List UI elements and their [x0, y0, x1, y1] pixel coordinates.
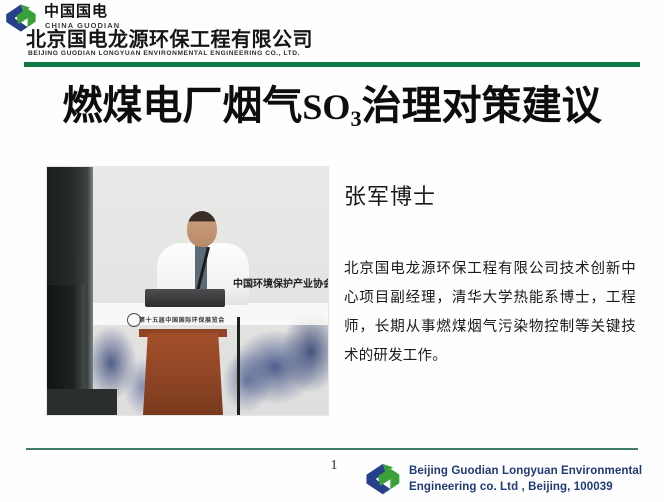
slide-title-part1: 燃煤电厂烟气: [62, 84, 302, 128]
slide-title-part2: 治理对策建议: [362, 84, 602, 128]
footer-guodian-logo-icon: [364, 462, 402, 496]
photo-floor-shadow: [47, 389, 117, 415]
slide-title: 燃煤电厂烟气SO3治理对策建议: [0, 82, 664, 136]
presentation-slide: 中国国电 CHINA GUODIAN 北京国电龙源环保工程有限公司 BEIJIN…: [0, 0, 664, 502]
slide-header: 中国国电 CHINA GUODIAN 北京国电龙源环保工程有限公司 BEIJIN…: [0, 0, 664, 68]
photo-backdrop-text: 中国环境保护产业协会: [233, 275, 329, 290]
page-number: 1: [325, 458, 343, 474]
company-name-cn: 北京国电龙源环保工程有限公司: [26, 29, 313, 51]
footer-line-1: Beijing Guodian Longyuan Environmental: [409, 464, 642, 480]
photo-microphone-stand: [237, 317, 240, 415]
footer-line-2: Engineering co. Ltd , Beijing, 100039: [409, 480, 642, 496]
footer-company-address: Beijing Guodian Longyuan Environmental E…: [409, 464, 642, 495]
company-name-en: BEIJING GUODIAN LONGYUAN ENVIRONMENTAL E…: [28, 50, 300, 58]
photo-expo-banner-text: 第十五届中国国际环保展览会: [139, 315, 225, 324]
photo-laptop: [145, 289, 225, 307]
chemical-formula-subscript: 3: [350, 106, 361, 131]
speaker-photo: 中国环境保护产业协会 第十五届中国国际环保展览会: [46, 166, 329, 416]
footer-divider: [26, 448, 638, 450]
photo-podium: [143, 333, 223, 415]
header-green-bar: [24, 62, 640, 67]
chemical-formula: SO3: [302, 87, 361, 127]
brand-name-cn: 中国国电: [44, 4, 108, 20]
speaker-name: 张军博士: [344, 182, 436, 212]
speaker-bio: 北京国电龙源环保工程有限公司技术创新中心项目副经理，清华大学热能系博士，工程师，…: [344, 255, 636, 371]
photo-speaker-head: [187, 211, 217, 247]
chemical-formula-base: SO: [302, 87, 350, 127]
